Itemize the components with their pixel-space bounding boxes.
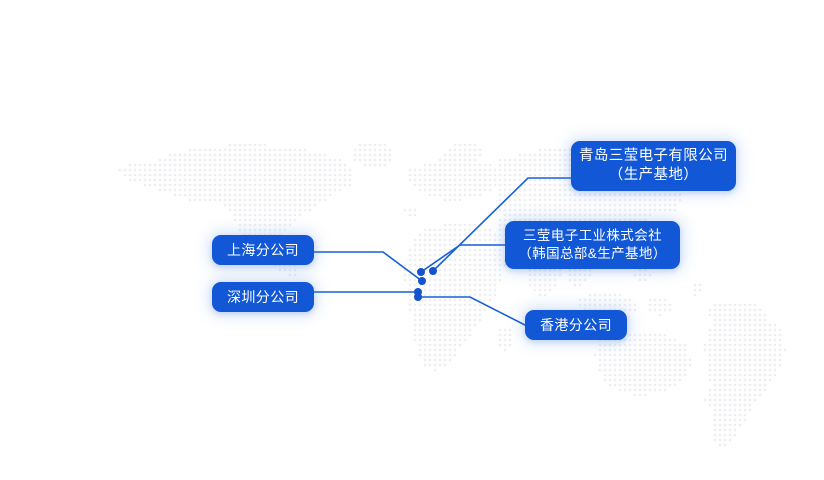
map-marker-dot-shanghai[interactable] (418, 277, 426, 285)
location-label-line: 三莹电子工业株式会社 (523, 227, 662, 245)
location-label-shenzhen[interactable]: 深圳分公司 (212, 282, 314, 312)
map-marker-dot-qingdao[interactable] (429, 267, 437, 275)
location-label-shanghai[interactable]: 上海分公司 (212, 235, 314, 265)
map-marker-dot-hongkong[interactable] (414, 293, 422, 301)
location-label-line: 上海分公司 (227, 241, 299, 260)
location-label-line: （生产基地） (609, 166, 698, 185)
location-label-line: 深圳分公司 (227, 288, 299, 307)
location-label-qingdao[interactable]: 青岛三莹电子有限公司 （生产基地） (571, 141, 736, 191)
location-label-hongkong[interactable]: 香港分公司 (525, 310, 627, 340)
location-label-korea[interactable]: 三莹电子工业株式会社 （韩国总部&生产基地） (505, 221, 680, 269)
connector-hongkong (418, 297, 525, 325)
world-map-locations-infographic: 青岛三莹电子有限公司 （生产基地） 三莹电子工业株式会社 （韩国总部&生产基地）… (0, 0, 824, 480)
location-label-line: 青岛三莹电子有限公司 (579, 147, 728, 166)
connector-shanghai (314, 252, 422, 281)
location-label-line: （韩国总部&生产基地） (518, 245, 666, 263)
connector-lines-layer (0, 0, 824, 480)
location-label-line: 香港分公司 (540, 316, 612, 335)
map-marker-dot-korea[interactable] (417, 268, 425, 276)
